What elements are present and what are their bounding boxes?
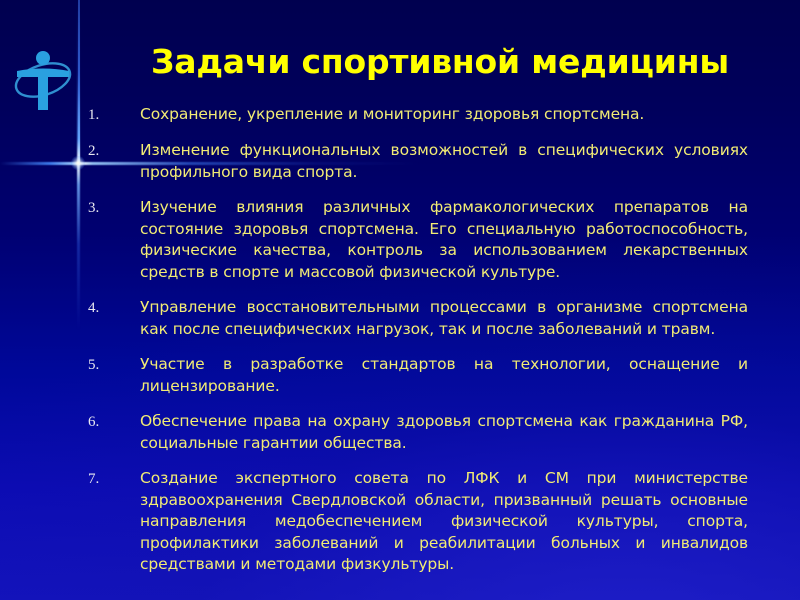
list-item-text: Создание экспертного совета по ЛФК и СМ …	[140, 468, 748, 576]
list-item-text: Изменение функциональных возможностей в …	[140, 140, 748, 183]
page-title: Задачи спортивной медицины	[95, 42, 785, 82]
sports-medicine-human-orbit-logo-icon	[11, 44, 75, 116]
list-item: 1. Сохранение, укрепление и мониторинг з…	[88, 104, 748, 126]
list-item-number: 5.	[88, 354, 140, 376]
list-item-number: 6.	[88, 411, 140, 433]
tasks-list: 1. Сохранение, укрепление и мониторинг з…	[88, 104, 748, 576]
list-item-number: 2.	[88, 140, 140, 162]
list-item-number: 7.	[88, 468, 140, 490]
list-item: 3. Изучение влияния различных фармаколог…	[88, 197, 748, 283]
list-item-text: Изучение влияния различных фармакологиче…	[140, 197, 748, 283]
list-item: 6. Обеспечение права на охрану здоровья …	[88, 411, 748, 454]
title-divider	[78, 0, 80, 165]
list-item: 2. Изменение функциональных возможностей…	[88, 140, 748, 183]
list-item-number: 1.	[88, 104, 140, 126]
list-item-text: Обеспечение права на охрану здоровья спо…	[140, 411, 748, 454]
list-item-text: Участие в разработке стандартов на техно…	[140, 354, 748, 397]
list-item-text: Управление восстановительными процессами…	[140, 297, 748, 340]
list-item-text: Сохранение, укрепление и мониторинг здор…	[140, 104, 748, 126]
list-item: 4. Управление восстановительными процесс…	[88, 297, 748, 340]
list-item-number: 4.	[88, 297, 140, 319]
list-item: 5. Участие в разработке стандартов на те…	[88, 354, 748, 397]
list-item: 7. Создание экспертного совета по ЛФК и …	[88, 468, 748, 576]
presentation-slide: Задачи спортивной медицины 1. Сохранение…	[0, 0, 800, 600]
list-item-number: 3.	[88, 197, 140, 219]
